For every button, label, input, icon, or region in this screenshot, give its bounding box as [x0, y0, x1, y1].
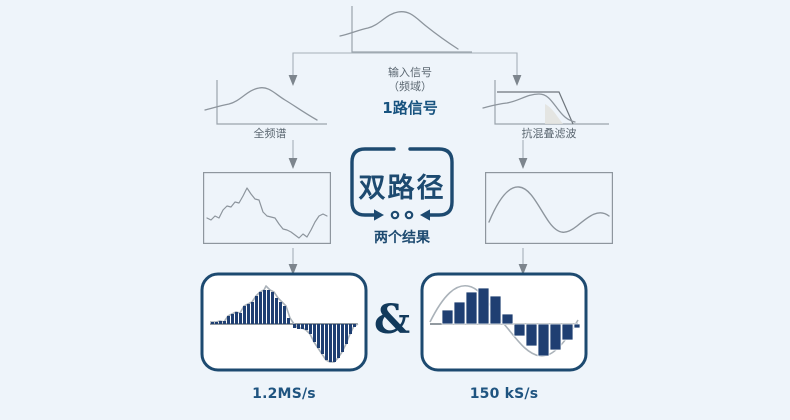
wideband-noise-panel: [203, 172, 331, 244]
sine-waveform-line: [489, 187, 609, 232]
arrow-left-col-1: [283, 140, 303, 170]
filter-response-curve: [497, 92, 573, 124]
arrow-right-col-1: [513, 140, 533, 170]
antialias-filter-chart: [483, 78, 615, 132]
rate-left-label: 1.2MS/s: [200, 386, 368, 402]
arrow-left-icon: [420, 209, 430, 220]
dot-icon: [392, 212, 398, 218]
ampersand-symbol: &: [374, 296, 410, 343]
dot-icon: [406, 212, 412, 218]
full-spectrum-label: 全频谱: [205, 127, 335, 141]
full-spectrum-chart: [205, 78, 335, 132]
diagram-canvas: 输入信号 （频域） 1路信号 全频谱 抗混叠滤波: [0, 0, 790, 420]
dual-path-label: 双路径: [348, 166, 456, 205]
arrow-down-icon: [519, 158, 528, 169]
arrow-right-icon: [374, 209, 384, 220]
stopband-shading: [545, 104, 563, 124]
low-rate-sample-panel: [420, 272, 588, 372]
one-channel-label: 1路信号: [332, 98, 488, 118]
spectrum-curve: [205, 88, 317, 120]
rate-right-label: 150 kS/s: [420, 386, 588, 402]
connector-path: [293, 53, 517, 78]
antialias-filter-label: 抗混叠滤波: [483, 127, 615, 141]
noise-waveform-line: [207, 188, 327, 238]
high-rate-sample-panel: [200, 272, 368, 372]
panel-border: [486, 173, 613, 244]
arrow-down-icon: [289, 158, 298, 169]
panel-border: [204, 173, 331, 244]
clean-sine-panel: [485, 172, 613, 244]
two-results-label: 两个结果: [348, 228, 456, 248]
